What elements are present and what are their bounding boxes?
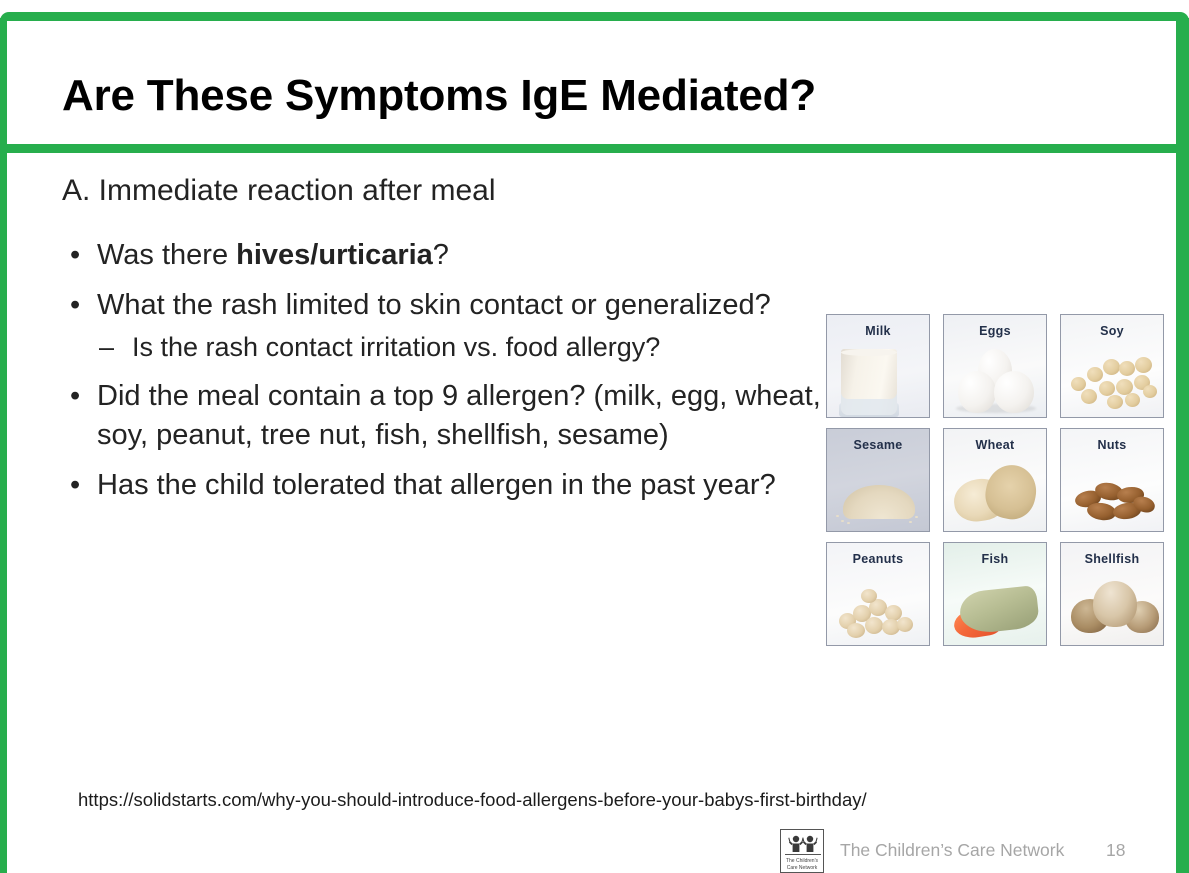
allergen-tile-sesame: Sesame xyxy=(826,428,930,532)
dash-marker-icon: – xyxy=(99,329,114,365)
allergen-tile-wheat: Wheat xyxy=(943,428,1047,532)
logo-caption-line1: The Children's xyxy=(781,858,823,865)
allergen-tile-label: Shellfish xyxy=(1061,552,1163,566)
slide-canvas: Are These Symptoms IgE Mediated? A. Imme… xyxy=(0,0,1189,873)
logo-caption-line2: Care Network xyxy=(781,865,823,872)
childrens-care-network-logo: The Children's Care Network xyxy=(780,829,824,873)
list-item: • Was there hives/urticaria? xyxy=(62,236,822,275)
allergen-tile-label: Fish xyxy=(944,552,1046,566)
sub-bullet-list: – Is the rash contact irritation vs. foo… xyxy=(97,329,822,365)
allergen-tile-label: Peanuts xyxy=(827,552,929,566)
bullet-text-bold: hives/urticaria xyxy=(236,239,433,271)
allergen-tile-label: Soy xyxy=(1061,324,1163,338)
bullet-dot-icon: • xyxy=(70,377,80,416)
logo-caption: The Children's Care Network xyxy=(781,858,823,871)
allergen-tile-label: Wheat xyxy=(944,438,1046,452)
bullet-text-prefix: What the rash limited to skin contact or… xyxy=(97,289,771,321)
bullet-list: • Was there hives/urticaria? • What the … xyxy=(62,236,822,505)
allergen-tile-label: Sesame xyxy=(827,438,929,452)
bullet-text-suffix: ? xyxy=(433,239,449,271)
source-url-text: https://solidstarts.com/why-you-should-i… xyxy=(78,789,867,811)
allergen-tile-milk: Milk xyxy=(826,314,930,418)
allergen-tile-eggs: Eggs xyxy=(943,314,1047,418)
title-container: Are These Symptoms IgE Mediated? xyxy=(0,21,1189,144)
allergen-tile-label: Milk xyxy=(827,324,929,338)
bullet-text-prefix: Was there xyxy=(97,239,236,271)
allergen-tile-nuts: Nuts xyxy=(1060,428,1164,532)
sub-list-item: – Is the rash contact irritation vs. foo… xyxy=(97,329,822,365)
children-figures-icon xyxy=(781,832,823,858)
frame-top-border xyxy=(0,12,1189,21)
bullet-text-prefix: Has the child tolerated that allergen in… xyxy=(97,469,776,501)
page-title: Are These Symptoms IgE Mediated? xyxy=(62,71,816,121)
lead-line: A. Immediate reaction after meal xyxy=(62,172,822,210)
allergen-image-grid: Milk Eggs xyxy=(826,314,1166,646)
page-number: 18 xyxy=(1106,840,1125,861)
allergen-tile-peanuts: Peanuts xyxy=(826,542,930,646)
list-item: • Did the meal contain a top 9 allergen?… xyxy=(62,377,822,454)
allergen-tile-shellfish: Shellfish xyxy=(1060,542,1164,646)
list-item: • Has the child tolerated that allergen … xyxy=(62,466,822,505)
list-item: • What the rash limited to skin contact … xyxy=(62,286,822,365)
bullet-dot-icon: • xyxy=(70,236,80,275)
slide-footer: The Children's Care Network The Children… xyxy=(0,826,1189,873)
content-column: A. Immediate reaction after meal • Was t… xyxy=(62,172,822,517)
title-divider xyxy=(0,144,1189,153)
footer-brand-text: The Children’s Care Network xyxy=(840,840,1064,861)
allergen-tile-soy: Soy xyxy=(1060,314,1164,418)
bullet-dot-icon: • xyxy=(70,286,80,325)
bullet-text-prefix: Did the meal contain a top 9 allergen? (… xyxy=(97,380,821,451)
sub-bullet-text: Is the rash contact irritation vs. food … xyxy=(132,332,660,362)
bullet-dot-icon: • xyxy=(70,466,80,505)
allergen-tile-fish: Fish xyxy=(943,542,1047,646)
allergen-tile-label: Eggs xyxy=(944,324,1046,338)
allergen-tile-label: Nuts xyxy=(1061,438,1163,452)
